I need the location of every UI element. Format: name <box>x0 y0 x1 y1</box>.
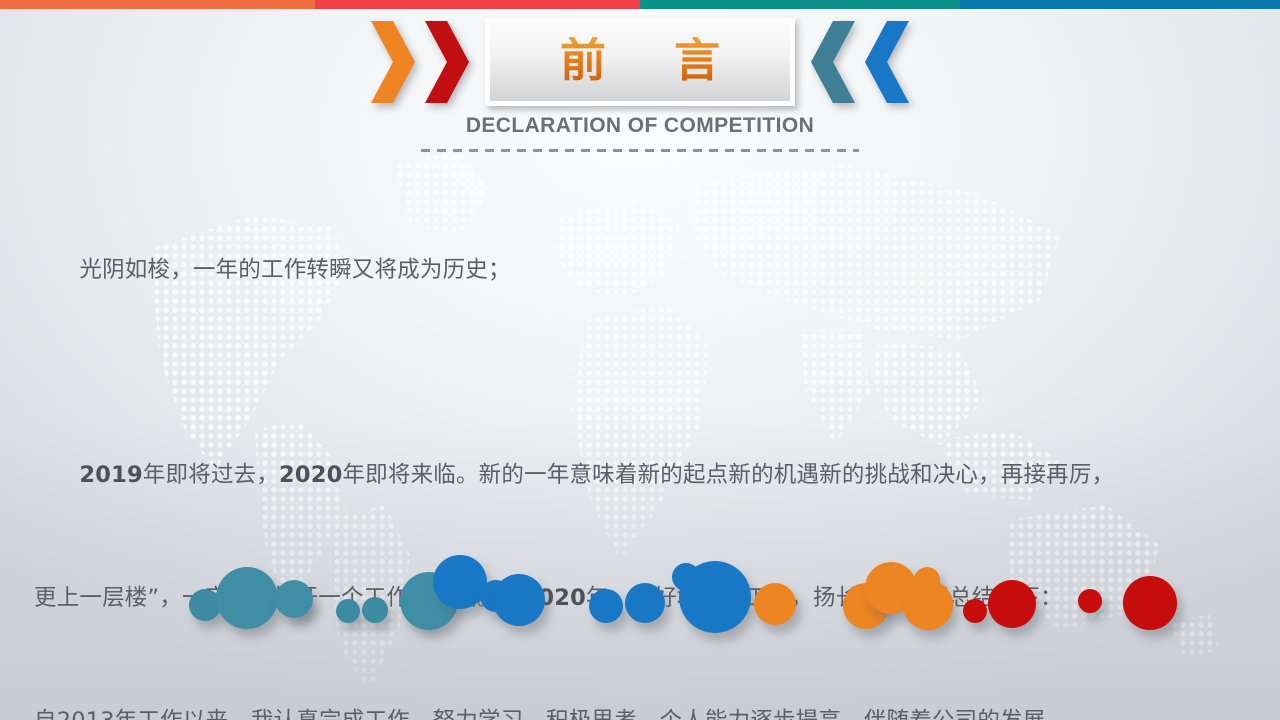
title-plaque: 前 言 <box>485 18 795 106</box>
body-copy: 光阴如梭，一年的工作转瞬又将成为历史； 2019年即将过去，2020年即将来临。… <box>34 168 1249 720</box>
chevron-left-teal-icon <box>809 19 857 105</box>
slide-canvas: 前 言 DECLARATION OF COMPETITION 光阴如梭，一年的工… <box>0 0 1280 720</box>
paragraph-1: 光阴如梭，一年的工作转瞬又将成为历史； <box>34 168 1249 373</box>
chevron-right-red-icon <box>423 19 471 105</box>
page-subtitle: DECLARATION OF COMPETITION <box>0 114 1280 138</box>
chevron-right-orange-icon <box>369 19 417 105</box>
body-line: 光阴如梭，一年的工作转瞬又将成为历史； <box>34 250 1249 291</box>
slide-header: 前 言 DECLARATION OF COMPETITION <box>0 0 1280 160</box>
chevron-left-blue-icon <box>863 19 911 105</box>
title-banner-row: 前 言 <box>0 14 1280 110</box>
body-line: 更上一层楼”，一定努力打开一个工作新局面。在2020年，更好地完成工作，扬长避短… <box>34 578 1249 619</box>
page-title: 前 言 <box>534 37 746 87</box>
body-line: 2019年即将过去，2020年即将来临。新的一年意味着新的起点新的机遇新的挑战和… <box>34 455 1249 496</box>
dashed-divider <box>421 149 859 152</box>
body-line: 自2013年工作以来，我认真完成工作，努力学习，积极思考，个人能力逐步提高。伴随… <box>34 701 1249 720</box>
paragraph-2: 2019年即将过去，2020年即将来临。新的一年意味着新的起点新的机遇新的挑战和… <box>34 373 1249 720</box>
